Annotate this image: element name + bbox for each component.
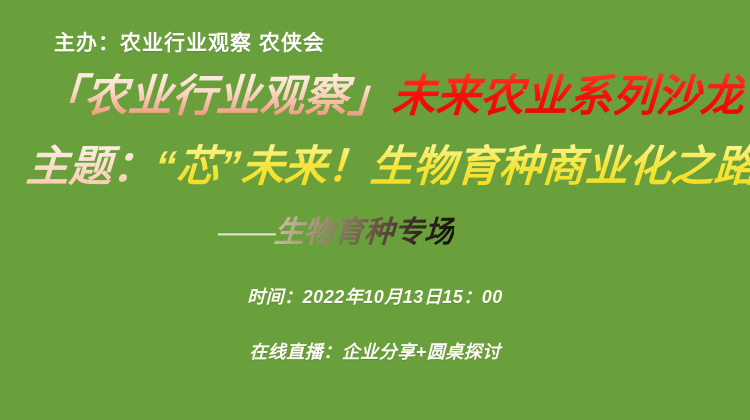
poster-subtitle-row: ——生物育种专场 [217, 213, 455, 253]
organizer-line: 主办：农业行业观察 农侠会 [54, 27, 325, 57]
subtitle-dash: —— [217, 216, 275, 249]
title-brand-text: 「农业行业观察」 [39, 72, 394, 121]
title-series-text: 未来农业系列沙龙 [391, 72, 746, 121]
event-livestream-line: 在线直播：企业分享+圆桌探讨 [0, 338, 750, 364]
topic-label: 主题： [25, 143, 157, 191]
event-poster: 主办：农业行业观察 农侠会 「农业行业观察」未来农业系列沙龙 主题：“芯”未来！… [0, 0, 750, 420]
poster-title-line-1: 「农业行业观察」未来农业系列沙龙 [39, 70, 722, 124]
poster-title-line-2: 主题：“芯”未来！生物育种商业化之路 [25, 140, 728, 194]
topic-text: “芯”未来！生物育种商业化之路 [154, 143, 750, 191]
event-time-line: 时间：2022年10月13日15：00 [0, 283, 750, 309]
subtitle-text: 生物育种专场 [273, 216, 455, 249]
